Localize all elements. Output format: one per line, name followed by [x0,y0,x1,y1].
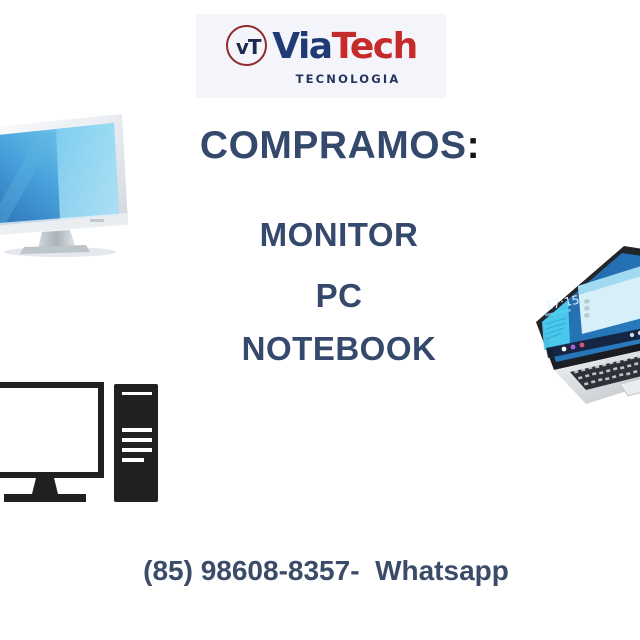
product-item-notebook: NOTEBOOK [0,330,640,368]
contact-phone-whatsapp[interactable]: (85) 98608-8357- Whatsapp [0,555,640,587]
logo-mark-text: vT [225,24,271,70]
logo-lockup: vT Via Tech [196,20,446,74]
headline-colon: : [467,124,481,167]
product-item-monitor: MONITOR [0,216,640,254]
desktop-pc-silhouette [0,382,164,516]
headline-text: COMPRAMOS [200,124,467,167]
viatech-vt-mark-icon: vT [225,24,271,70]
logo-tagline: TECNOLOGIA [196,72,446,86]
pc-tower [114,384,158,502]
logo-panel: vT Via Tech TECNOLOGIA [196,14,446,98]
laptop-photo: 17:15 [512,236,640,412]
product-item-pc: PC [0,277,640,315]
logo-word-via: Via [272,29,331,65]
advertisement-poster: vT Via Tech TECNOLOGIA [0,0,640,640]
page-title: COMPRAMOS: [0,124,640,168]
logo-word-tech: Tech [332,29,417,65]
